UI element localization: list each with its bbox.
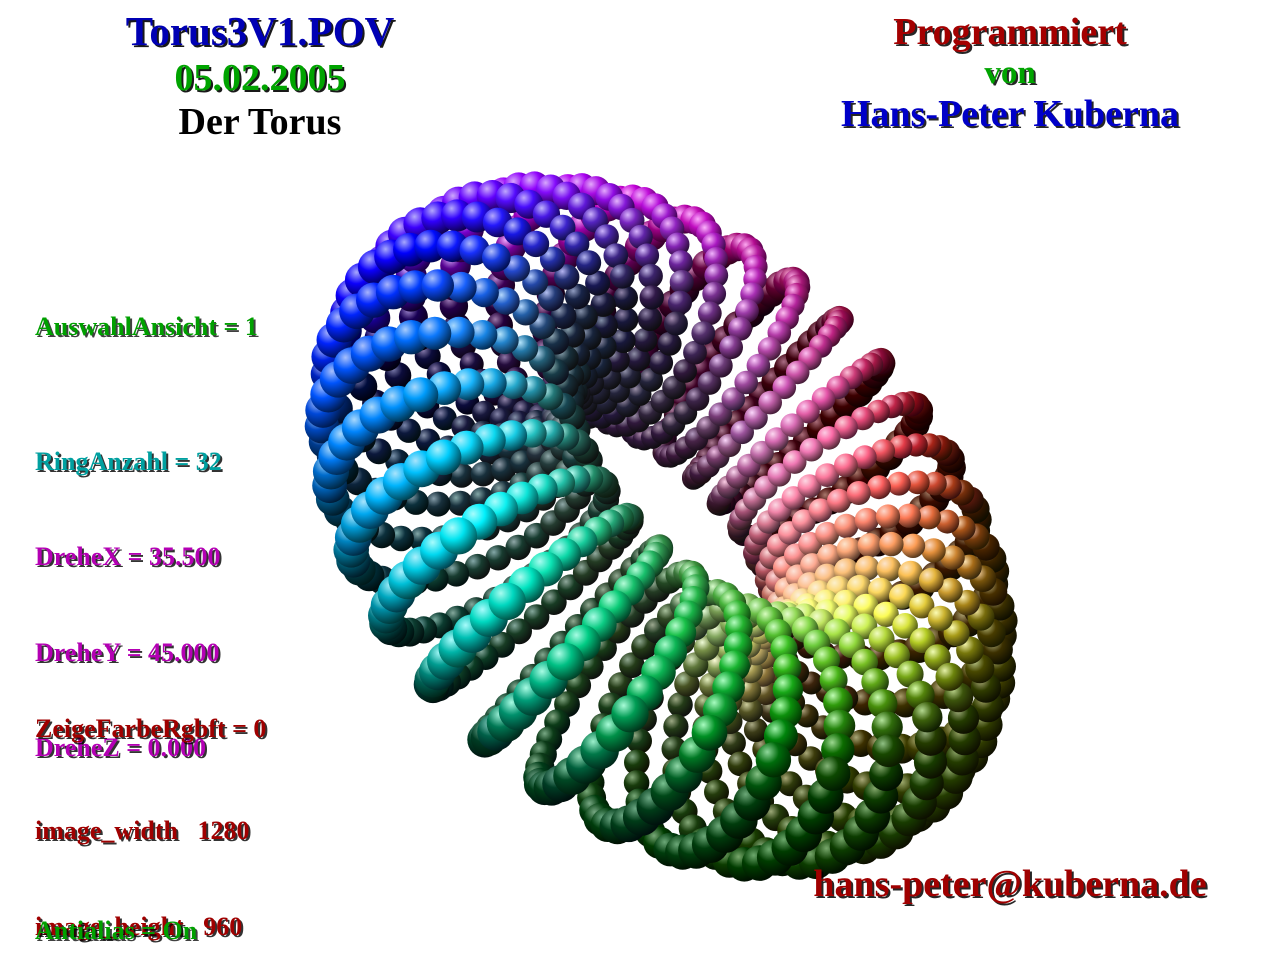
torus-sphere (891, 392, 915, 416)
torus-sphere (314, 375, 346, 407)
param-antialias-group: Antialias = On Antialias_Threshold = 0.3… (35, 852, 335, 960)
torus-sphere (431, 525, 456, 550)
torus-sphere (592, 191, 623, 222)
torus-sphere (554, 264, 579, 289)
torus-sphere (691, 321, 715, 345)
torus-sphere (620, 208, 645, 233)
torus-sphere (533, 201, 560, 228)
torus-sphere (554, 691, 580, 717)
torus-sphere (558, 225, 589, 256)
torus-sphere (770, 561, 792, 583)
torus-sphere (798, 347, 821, 370)
torus-sphere (929, 678, 960, 709)
torus-sphere (945, 742, 978, 775)
torus-sphere (938, 578, 963, 603)
torus-sphere (929, 776, 963, 810)
torus-sphere (388, 526, 414, 552)
torus-sphere (605, 618, 631, 644)
torus-sphere (985, 591, 1014, 620)
torus-sphere (611, 328, 636, 353)
torus-sphere (722, 593, 748, 619)
torus-sphere (664, 403, 688, 427)
torus-sphere (697, 759, 722, 784)
torus-sphere (514, 190, 543, 219)
torus-sphere (651, 203, 677, 229)
torus-sphere (748, 524, 770, 546)
torus-sphere (552, 423, 579, 450)
torus-sphere (489, 632, 515, 658)
torus-sphere (423, 670, 454, 701)
torus-sphere (794, 825, 824, 855)
torus-sphere (909, 593, 934, 618)
torus-sphere (689, 456, 711, 478)
torus-sphere (380, 386, 416, 422)
torus-sphere (443, 317, 474, 348)
torus-sphere (499, 692, 538, 731)
torus-sphere (524, 410, 548, 434)
torus-sphere (772, 829, 809, 866)
torus-sphere (833, 686, 858, 711)
torus-sphere (779, 602, 804, 627)
torus-sphere (559, 399, 583, 423)
torus-sphere (311, 339, 346, 374)
torus-sphere (756, 628, 780, 652)
torus-sphere (418, 317, 451, 350)
torus-sphere (562, 445, 588, 471)
torus-sphere (696, 604, 722, 630)
torus-sphere (360, 263, 393, 296)
torus-sphere (927, 762, 960, 795)
torus-sphere (636, 550, 664, 578)
torus-sphere (403, 490, 428, 515)
torus-sphere (917, 505, 941, 529)
torus-sphere (910, 628, 936, 654)
torus-sphere (833, 590, 858, 615)
torus-sphere (558, 574, 584, 600)
torus-sphere (520, 376, 547, 403)
torus-sphere (640, 324, 668, 352)
torus-sphere (573, 364, 598, 389)
torus-sphere (872, 712, 903, 743)
torus-sphere (917, 433, 941, 457)
torus-sphere (867, 475, 891, 499)
torus-sphere (572, 437, 599, 464)
torus-sphere (960, 659, 992, 691)
torus-sphere (610, 805, 647, 842)
torus-sphere (775, 577, 799, 601)
torus-sphere (889, 584, 914, 609)
torus-sphere (576, 465, 603, 492)
torus-sphere (605, 348, 629, 372)
torus-sphere (821, 308, 849, 336)
torus-sphere (807, 580, 832, 605)
torus-sphere (786, 661, 809, 684)
torus-sphere (426, 492, 451, 517)
torus-sphere (770, 635, 797, 662)
torus-sphere (904, 633, 934, 663)
torus-sphere (928, 473, 958, 503)
torus-sphere (487, 704, 525, 742)
torus-sphere (660, 217, 685, 242)
torus-sphere (490, 408, 514, 432)
torus-sphere (614, 514, 640, 540)
torus-sphere (541, 589, 567, 615)
torus-sphere (797, 572, 821, 596)
torus-sphere (965, 654, 994, 683)
torus-sphere (624, 770, 650, 796)
torus-sphere (542, 765, 579, 802)
torus-sphere (764, 611, 789, 636)
torus-sphere (840, 366, 863, 389)
torus-sphere (560, 404, 586, 430)
torus-sphere (486, 271, 515, 300)
torus-sphere (440, 292, 468, 320)
torus-sphere (532, 320, 558, 346)
torus-sphere (495, 507, 520, 532)
torus-sphere (542, 373, 565, 396)
torus-sphere (892, 773, 924, 805)
torus-sphere (310, 376, 346, 412)
torus-sphere (972, 691, 1004, 723)
torus-sphere (752, 737, 776, 761)
torus-sphere (618, 185, 647, 214)
param-drehe-x: DreheX = 35.500 (35, 541, 220, 573)
torus-sphere (371, 326, 406, 361)
torus-sphere (843, 815, 879, 851)
torus-sphere (608, 569, 634, 595)
torus-sphere (928, 606, 953, 631)
torus-sphere (686, 387, 710, 411)
torus-sphere (869, 626, 895, 652)
torus-sphere (573, 560, 599, 586)
torus-sphere (598, 693, 624, 719)
torus-sphere (486, 545, 511, 570)
torus-sphere (756, 742, 791, 777)
torus-sphere (342, 409, 379, 446)
torus-sphere (808, 778, 844, 814)
torus-sphere (704, 436, 728, 460)
torus-sphere (981, 634, 1013, 666)
torus-sphere (354, 561, 385, 592)
torus-sphere (529, 346, 556, 373)
torus-sphere (630, 187, 658, 215)
torus-sphere (817, 601, 842, 626)
torus-sphere (356, 283, 391, 318)
param-zeige-farbe-rgbft-text: ZeigeFarbeRgbft = 0 (35, 713, 266, 745)
torus-sphere (624, 750, 650, 776)
torus-sphere (952, 606, 983, 637)
torus-sphere (452, 368, 484, 400)
torus-sphere (759, 520, 782, 543)
torus-sphere (621, 375, 645, 399)
torus-sphere (693, 715, 718, 740)
torus-sphere (712, 671, 745, 704)
torus-sphere (679, 561, 706, 588)
torus-sphere (383, 463, 421, 501)
torus-sphere (490, 423, 514, 447)
torus-sphere (696, 416, 719, 439)
torus-sphere (415, 343, 441, 369)
torus-sphere (748, 619, 773, 644)
torus-sphere (700, 341, 728, 369)
author-block: Programmiert von Hans-Peter Kuberna (740, 10, 1280, 136)
torus-sphere (704, 264, 728, 288)
torus-sphere (583, 517, 612, 546)
torus-sphere (673, 560, 700, 587)
torus-sphere (507, 679, 533, 705)
torus-sphere (735, 498, 758, 521)
torus-sphere (664, 312, 688, 336)
torus-sphere (598, 534, 624, 560)
torus-sphere (463, 597, 489, 623)
torus-sphere (785, 275, 810, 300)
torus-sphere (743, 487, 766, 510)
torus-sphere (919, 568, 944, 593)
torus-sphere (938, 475, 962, 499)
torus-sphere (528, 404, 552, 428)
torus-sphere (827, 310, 852, 335)
torus-sphere (626, 789, 653, 816)
torus-sphere (378, 405, 403, 430)
torus-sphere (828, 803, 858, 833)
torus-sphere (744, 641, 769, 666)
torus-sphere (937, 453, 966, 482)
torus-sphere (539, 549, 565, 575)
torus-sphere (590, 713, 616, 739)
torus-sphere (638, 307, 662, 331)
torus-sphere (702, 233, 726, 257)
torus-sphere (344, 467, 372, 495)
torus-sphere (837, 537, 861, 561)
torus-sphere (830, 829, 866, 865)
torus-sphere (749, 381, 777, 409)
torus-sphere (768, 463, 792, 487)
torus-sphere (673, 359, 697, 383)
torus-sphere (485, 291, 513, 319)
torus-sphere (543, 359, 569, 385)
torus-sphere (750, 441, 774, 465)
torus-sphere (718, 434, 741, 457)
torus-sphere (658, 646, 683, 671)
torus-sphere (565, 342, 590, 367)
torus-sphere (752, 645, 776, 669)
torus-sphere (526, 416, 550, 440)
torus-sphere (723, 233, 752, 262)
torus-sphere (752, 463, 777, 488)
torus-sphere (678, 832, 714, 868)
torus-sphere (448, 491, 473, 516)
torus-sphere (737, 237, 764, 264)
torus-sphere (515, 381, 538, 404)
torus-sphere (632, 341, 659, 368)
torus-sphere (633, 328, 657, 352)
torus-sphere (942, 752, 975, 785)
torus-sphere (773, 556, 797, 580)
torus-sphere (758, 579, 781, 602)
torus-sphere (580, 398, 604, 422)
torus-sphere (818, 324, 841, 347)
torus-sphere (815, 463, 839, 487)
torus-sphere (470, 487, 495, 512)
torus-sphere (679, 815, 707, 843)
torus-sphere (526, 391, 549, 414)
torus-sphere (544, 404, 568, 428)
torus-sphere (865, 349, 890, 374)
torus-sphere (765, 619, 792, 646)
torus-sphere (826, 576, 851, 601)
torus-sphere (529, 661, 567, 699)
torus-sphere (495, 693, 521, 719)
torus-sphere (465, 554, 491, 580)
torus-sphere (983, 635, 1013, 665)
torus-sphere (690, 357, 718, 385)
torus-sphere (638, 685, 663, 710)
torus-sphere (807, 414, 836, 443)
torus-sphere (440, 517, 477, 554)
torus-sphere (534, 770, 570, 806)
torus-sphere (613, 286, 638, 311)
torus-sphere (736, 827, 765, 856)
torus-sphere (334, 410, 363, 439)
torus-sphere (739, 698, 763, 722)
torus-sphere (421, 201, 454, 234)
torus-sphere (853, 445, 877, 469)
torus-sphere (736, 633, 761, 658)
torus-sphere (781, 294, 804, 317)
torus-sphere (804, 630, 831, 657)
torus-sphere (471, 462, 496, 487)
torus-sphere (589, 406, 612, 429)
torus-sphere (309, 425, 342, 458)
torus-sphere (578, 406, 601, 429)
torus-sphere (910, 769, 942, 801)
torus-sphere (884, 805, 917, 838)
torus-sphere (768, 498, 792, 522)
torus-sphere (394, 320, 428, 354)
torus-sphere (508, 567, 544, 603)
torus-sphere (545, 472, 571, 498)
torus-sphere (452, 213, 484, 245)
torus-sphere (669, 250, 693, 274)
torus-sphere (829, 724, 855, 750)
torus-sphere (858, 533, 882, 557)
torus-sphere (829, 644, 854, 669)
torus-sphere (580, 371, 605, 396)
torus-sphere (815, 564, 840, 589)
torus-sphere (557, 396, 580, 419)
torus-sphere (373, 343, 401, 371)
torus-sphere (444, 561, 470, 587)
torus-sphere (904, 402, 933, 431)
torus-sphere (714, 424, 739, 449)
torus-sphere (694, 693, 719, 718)
torus-sphere (767, 591, 791, 615)
torus-sphere (812, 387, 836, 411)
torus-sphere (426, 440, 462, 476)
torus-sphere (567, 173, 597, 203)
torus-sphere (626, 426, 649, 449)
torus-sphere (393, 233, 427, 267)
torus-sphere (904, 433, 927, 456)
torus-sphere (983, 667, 1015, 699)
torus-sphere (847, 575, 872, 600)
torus-sphere (868, 578, 893, 603)
torus-sphere (635, 243, 659, 267)
torus-sphere (588, 298, 616, 326)
torus-sphere (852, 689, 879, 716)
torus-sphere (654, 635, 687, 668)
torus-sphere (474, 186, 506, 218)
torus-sphere (477, 368, 507, 398)
torus-sphere (820, 401, 849, 430)
torus-sphere (747, 354, 771, 378)
torus-sphere (934, 439, 961, 466)
torus-sphere (924, 644, 951, 671)
torus-sphere (916, 788, 950, 822)
torus-sphere (539, 179, 570, 210)
torus-sphere (741, 245, 766, 270)
torus-sphere (847, 730, 874, 757)
torus-sphere (488, 177, 520, 209)
torus-sphere (382, 485, 407, 510)
torus-sphere (809, 335, 832, 358)
torus-sphere (529, 313, 555, 339)
torus-sphere (885, 429, 915, 459)
torus-sphere (904, 393, 931, 420)
torus-sphere (399, 241, 431, 273)
torus-sphere (764, 660, 788, 684)
torus-sphere (783, 450, 807, 474)
torus-sphere (817, 426, 841, 450)
torus-sphere (936, 663, 964, 691)
torus-sphere (552, 402, 575, 425)
torus-sphere (374, 240, 408, 274)
torus-sphere (457, 440, 481, 464)
torus-sphere (772, 596, 796, 620)
torus-sphere (725, 615, 753, 643)
torus-sphere (973, 582, 1004, 613)
torus-sphere (786, 341, 816, 371)
torus-sphere-group (305, 171, 1018, 881)
torus-sphere (954, 590, 980, 616)
torus-sphere (743, 268, 766, 291)
torus-sphere (458, 655, 484, 681)
torus-sphere (595, 183, 623, 211)
torus-sphere (645, 576, 671, 602)
torus-sphere (724, 410, 750, 436)
torus-sphere (618, 403, 640, 425)
torus-sphere (651, 773, 689, 811)
torus-sphere (523, 762, 554, 793)
torus-sphere (682, 574, 709, 601)
torus-sphere (752, 625, 777, 650)
torus-sphere (790, 588, 815, 613)
torus-sphere (576, 447, 603, 474)
torus-sphere (696, 447, 719, 470)
torus-sphere (496, 183, 526, 213)
torus-sphere (403, 450, 440, 487)
torus-sphere (531, 485, 556, 510)
torus-sphere (471, 421, 495, 445)
torus-sphere (897, 504, 921, 528)
torus-sphere (704, 579, 731, 606)
torus-sphere (594, 224, 619, 249)
torus-sphere (560, 381, 586, 407)
torus-sphere (338, 353, 368, 383)
torus-sphere (847, 830, 881, 864)
torus-sphere (417, 670, 450, 703)
torus-sphere (940, 545, 964, 569)
